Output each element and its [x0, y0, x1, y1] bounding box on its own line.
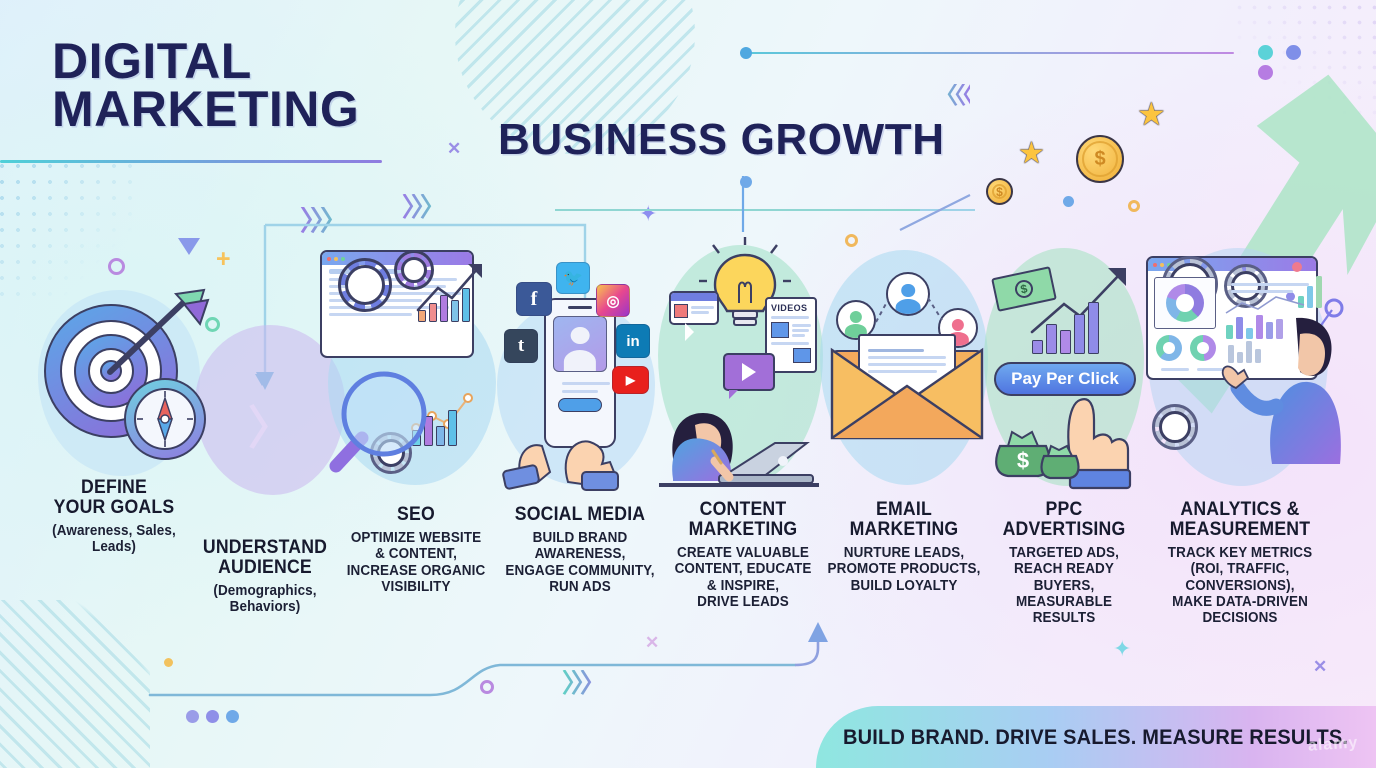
page-title-line2: MARKETING — [52, 86, 482, 134]
facebook-icon: f — [516, 282, 552, 316]
step-title: ANALYTICS &MEASUREMENT — [1154, 500, 1325, 540]
page-title: DIGITAL MARKETING — [52, 38, 482, 133]
smartphone-social-icons-icon: 🐦 f ◎ t in ▶ — [498, 262, 658, 480]
youtube-icon: ▶ — [612, 366, 649, 394]
step-desc: BUILD BRANDAWARENESS,ENGAGE COMMUNITY,RU… — [498, 530, 662, 595]
page-title-line1: DIGITAL — [52, 38, 482, 86]
step-ppc-advertising: PPCADVERTISING TARGETED ADS,REACH READY … — [982, 500, 1146, 626]
content-doc-label: VIDEOS — [771, 303, 811, 313]
infographic-poster: + ✦ ✦ ✕ ✕ ✕ $ $ ★ ★ 〉〉〉 〉〉〉 〈〈〈 〉〉〉 〉 — [0, 0, 1376, 768]
open-envelope-contacts-icon — [828, 272, 988, 472]
creator-laptop-lightbulb-icon: VIDEOS — [655, 243, 830, 481]
step-title: PPCADVERTISING — [988, 500, 1141, 540]
step-desc: NURTURE LEADS,PROMOTE PRODUCTS,BUILD LOY… — [824, 545, 984, 594]
magnifier-browser-gears-icon — [320, 250, 500, 480]
page-subtitle: BUSINESS GROWTH — [498, 115, 945, 165]
linkedin-icon: in — [616, 324, 650, 358]
step-seo: SEO OPTIMIZE WEBSITE& CONTENT,INCREASE O… — [330, 505, 502, 595]
pay-per-click-hand-icon: $ Pay Per Click $ — [990, 258, 1145, 483]
twitter-icon: 🐦 — [556, 262, 590, 294]
step-desc: TRACK KEY METRICS(ROI, Traffic, Conversi… — [1154, 545, 1325, 626]
target-arrow-compass-icon — [40, 300, 210, 470]
step-title: CONTENTMARKETING — [666, 500, 820, 540]
watermark-label: alamy — [1307, 734, 1359, 755]
step-analytics-measurement: ANALYTICS &MEASUREMENT TRACK KEY METRICS… — [1148, 500, 1332, 626]
seo-bar-chart — [418, 288, 470, 322]
step-desc: TARGETED ADS,REACH READY BUYERS,MEASURAB… — [988, 545, 1141, 626]
step-title: SOCIAL MEDIA — [498, 505, 662, 525]
audience-chevron-icon — [230, 380, 320, 470]
tumblr-icon: t — [504, 329, 538, 363]
instagram-icon: ◎ — [596, 284, 630, 317]
step-desc: OPTIMIZE WEBSITE& CONTENT,INCREASE ORGAN… — [336, 530, 496, 595]
step-title: DEFINEYOUR GOALS — [15, 478, 212, 518]
step-content-marketing: CONTENTMARKETING CREATE VALUABLECONTENT,… — [660, 500, 826, 610]
step-title: EMAILMARKETING — [824, 500, 984, 540]
svg-text:$: $ — [1017, 448, 1029, 473]
dashboard-analyst-icon — [1146, 256, 1346, 482]
footer-banner: BUILD BRAND. DRIVE SALES. MEASURE RESULT… — [816, 706, 1376, 768]
footer-tagline: BUILD BRAND. DRIVE SALES. MEASURE RESULT… — [843, 725, 1348, 750]
step-social-media: SOCIAL MEDIA BUILD BRANDAWARENESS,ENGAGE… — [492, 505, 668, 595]
step-desc: CREATE VALUABLECONTENT, EDUCATE& INSPIRE… — [666, 545, 820, 610]
step-email-marketing: EMAILMARKETING NURTURE LEADS,PROMOTE PRO… — [818, 500, 990, 594]
step-title: SEO — [336, 505, 496, 525]
